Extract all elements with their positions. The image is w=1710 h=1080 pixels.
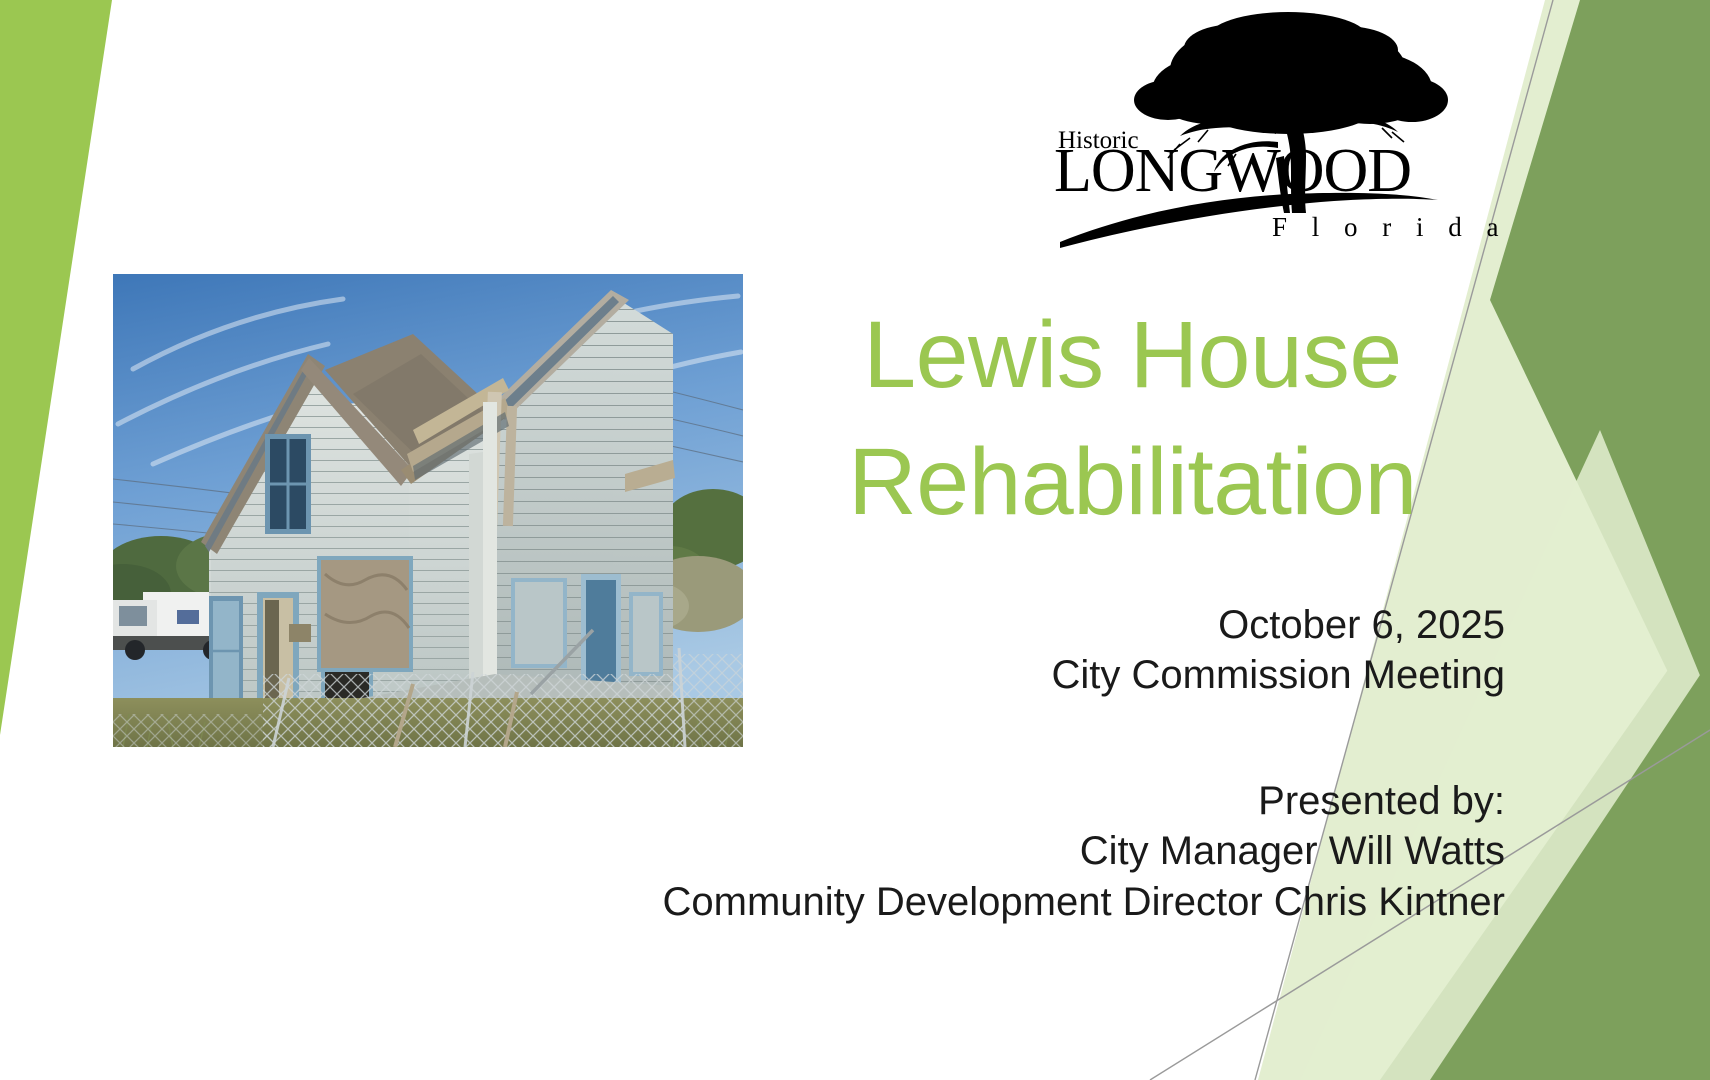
presentation-slide: Historic LONGWOOD F l o r i d a Lewis Ho… bbox=[0, 0, 1710, 1080]
presented-by-label: Presented by: bbox=[560, 776, 1505, 826]
logo-florida-text: F l o r i d a bbox=[1272, 212, 1508, 242]
left-green-wedge bbox=[0, 0, 112, 735]
meeting-date: October 6, 2025 bbox=[560, 600, 1505, 650]
presenter-city-manager: City Manager Will Watts bbox=[560, 826, 1505, 876]
logo-longwood-text: LONGWOOD bbox=[1054, 137, 1411, 205]
subtitle-spacer bbox=[560, 701, 1505, 776]
slide-title-line-1: Lewis House bbox=[760, 292, 1505, 419]
bottom-right-bright-green-accent bbox=[1520, 860, 1710, 1080]
slide-title: Lewis House Rehabilitation bbox=[760, 292, 1505, 547]
meeting-name: City Commission Meeting bbox=[560, 650, 1505, 700]
slide-title-line-2: Rehabilitation bbox=[760, 419, 1505, 546]
slide-subtitle: October 6, 2025 City Commission Meeting … bbox=[560, 600, 1505, 927]
presenter-community-development-director: Community Development Director Chris Kin… bbox=[560, 877, 1505, 927]
historic-longwood-florida-logo: Historic LONGWOOD F l o r i d a bbox=[1040, 8, 1540, 248]
